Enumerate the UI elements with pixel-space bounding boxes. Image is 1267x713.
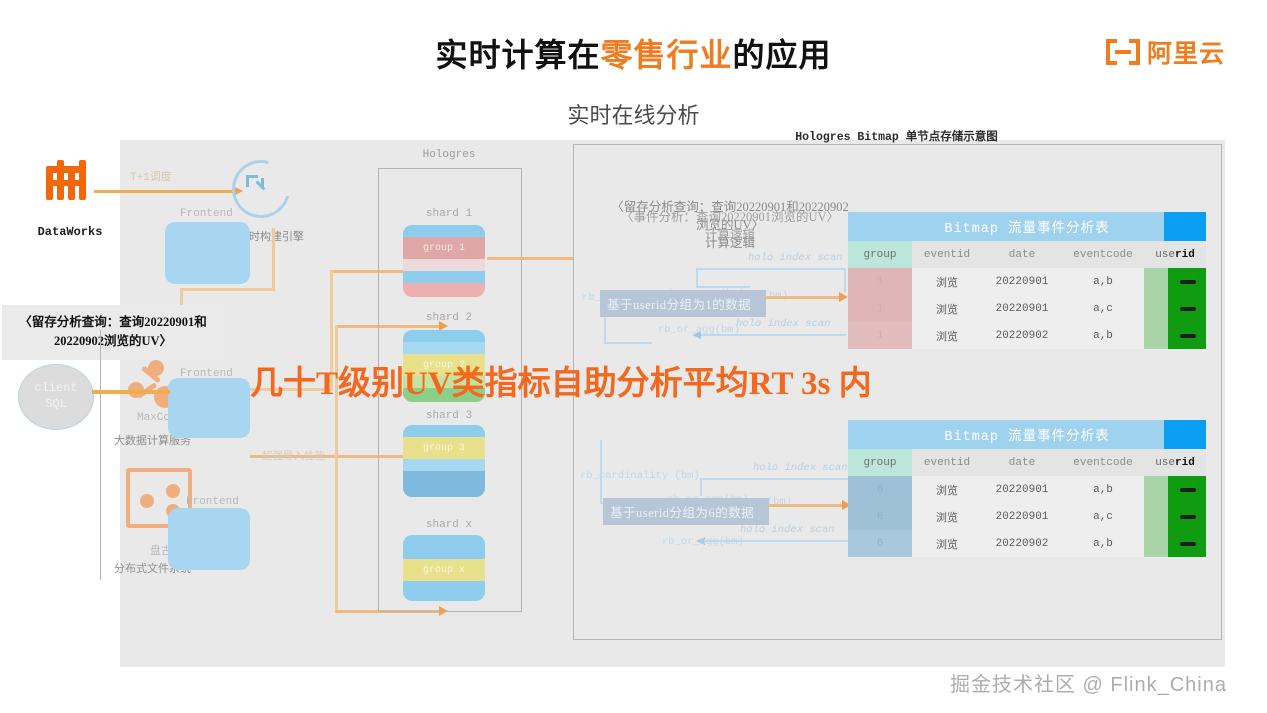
flow-bottom-line-1	[700, 478, 850, 480]
table-2-r0-date: 20220901	[982, 476, 1062, 503]
table-row: 1 浏览 20220902 a,b	[848, 322, 1206, 349]
table-2-caption-text: Bitmap 流量事件分析表	[944, 424, 1109, 445]
shard-node-x: group x	[403, 535, 485, 601]
right-panel-title: Hologres Bitmap 单节点存储示意图	[573, 128, 1220, 144]
table-2-col-group: group	[848, 449, 912, 476]
table-2-col-date: date	[982, 449, 1062, 476]
table-1-col-userid: userid	[1144, 241, 1206, 268]
table-2-header: group eventid date eventcode userid	[848, 449, 1206, 476]
alibaba-cloud-logo: 阿里云	[1106, 34, 1225, 70]
hologres-title: Hologres	[378, 149, 520, 161]
table-1-r1-eventid: 浏览	[912, 295, 982, 322]
flow-top-line-2	[696, 268, 698, 286]
table-1-r0-userid	[1144, 268, 1206, 295]
connector-1	[272, 228, 275, 290]
table-1-r0-date: 20220901	[982, 268, 1062, 295]
table-2-r1-date: 20220901	[982, 503, 1062, 530]
table-2-r1-group: 6	[848, 503, 912, 530]
dataworks-label: DataWorks	[22, 225, 118, 239]
table-2-r0-eventid: 浏览	[912, 476, 982, 503]
watermark: 掘金技术社区 @ Flink_China	[950, 668, 1227, 697]
slide-root: 实时计算在零售行业的应用 实时在线分析 阿里云 DataWorks T+1调度 …	[0, 0, 1267, 713]
shard-label-2: shard 2	[378, 312, 520, 324]
table-2-r2-userid	[1144, 530, 1206, 557]
shard-group-label-3: group 3	[403, 437, 485, 459]
table-1-r1-userid	[1144, 295, 1206, 322]
table-row: 6 浏览 20220901 a,b	[848, 476, 1206, 503]
callout-line-1: 〈留存分析查询：查询20220901和	[19, 315, 207, 329]
table-1-col-group: group	[848, 241, 912, 268]
flow-bottom-scan-label-1: holo index scan	[753, 462, 848, 474]
schedule-arrow-label: T+1调度	[130, 168, 172, 184]
table-1-accent-square	[1164, 212, 1206, 241]
table-1-col-eventcode: eventcode	[1062, 241, 1144, 268]
table-2-r2-date: 20220902	[982, 530, 1062, 557]
shard-label-1: shard 1	[378, 208, 520, 220]
logo-text: 阿里云	[1147, 34, 1225, 70]
table-2-r1-eventid: 浏览	[912, 503, 982, 530]
flow-top-scan-label-1: holo index scan	[748, 252, 843, 264]
query-b-line2: 计算逻辑	[590, 226, 870, 244]
bitmap-table-1: Bitmap 流量事件分析表 group eventid date eventc…	[848, 212, 1206, 349]
table-2-r1-userid	[1144, 503, 1206, 530]
retention-query-callout: 〈留存分析查询：查询20220901和 20220902浏览的UV〉	[2, 305, 224, 360]
shard-group-label-x: group x	[403, 559, 485, 581]
arrow-shard1-to-panel	[487, 257, 577, 260]
flow-bottom-overlay: 基于userid分组为6的数据	[603, 498, 769, 525]
flow-top-scan-label-2: holo index scan	[736, 318, 831, 330]
flow-bottom-scan-label-2: holo index scan	[740, 524, 835, 536]
table-1-r2-eventid: 浏览	[912, 322, 982, 349]
overlay-banner: 几十T级别UV类指标自助分析平均RT 3s 内	[250, 356, 1030, 404]
client-sql-node: client SQL	[18, 364, 94, 430]
alibaba-cloud-mark-icon	[1106, 39, 1140, 65]
import-arrow-label: 超强导入性能	[262, 448, 325, 463]
table-1-r1-eventcode: a,c	[1062, 295, 1144, 322]
table-row: 6 浏览 20220902 a,b	[848, 530, 1206, 557]
table-1-r2-userid	[1144, 322, 1206, 349]
table-1-caption: Bitmap 流量事件分析表	[848, 212, 1206, 241]
table-row: 1 浏览 20220901 a,c	[848, 295, 1206, 322]
table-2-r0-group: 6	[848, 476, 912, 503]
table-row: 1 浏览 20220901 a,b	[848, 268, 1206, 295]
connector-2	[180, 288, 275, 291]
flow-bottom-line-5	[600, 440, 602, 504]
title-part2: 的应用	[733, 37, 832, 73]
table-2-col-eventcode: eventcode	[1062, 449, 1144, 476]
frontend-box-1	[165, 222, 250, 284]
shard-label-3: shard 3	[378, 410, 520, 422]
flow-top-line-4	[844, 268, 846, 292]
table-1-caption-text: Bitmap 流量事件分析表	[944, 216, 1109, 237]
query-text-b: 〈事件分析：查询20220901浏览的UV〉 计算逻辑	[590, 208, 870, 244]
table-2-r1-eventcode: a,c	[1062, 503, 1144, 530]
frontend-label-1: Frontend	[180, 208, 233, 220]
callout-line-2: 20220902浏览的UV〉	[8, 332, 218, 351]
table-1-r0-group: 1	[848, 268, 912, 295]
table-1-r0-eventid: 浏览	[912, 268, 982, 295]
title-highlight: 零售行业	[600, 37, 732, 73]
shard-node-1: group 1	[403, 225, 485, 297]
table-2-caption: Bitmap 流量事件分析表	[848, 420, 1206, 449]
page-title: 实时计算在零售行业的应用	[0, 30, 1267, 76]
client-label-2: SQL	[45, 397, 67, 413]
table-row: 6 浏览 20220901 a,c	[848, 503, 1206, 530]
flow-top-agg-label-3: rb_or_agg(bm)	[658, 324, 740, 336]
table-2-col-eventid: eventid	[912, 449, 982, 476]
table-1-col-date: date	[982, 241, 1062, 268]
table-1-r0-eventcode: a,b	[1062, 268, 1144, 295]
table-2-r2-eventcode: a,b	[1062, 530, 1144, 557]
table-2-accent-square	[1164, 420, 1206, 449]
page-subtitle: 实时在线分析	[0, 98, 1267, 130]
table-2-col-userid: userid	[1144, 449, 1206, 476]
frontend-box-2	[168, 378, 250, 438]
title-part1: 实时计算在	[435, 37, 600, 73]
query-b-line1: 〈事件分析：查询20220901浏览的UV〉	[590, 208, 870, 226]
table-1-r2-eventcode: a,b	[1062, 322, 1144, 349]
client-label-1: client	[34, 381, 77, 397]
realtime-engine-glyph-icon	[246, 175, 270, 199]
vertical-divider	[100, 330, 101, 580]
table-1-header: group eventid date eventcode userid	[848, 241, 1206, 268]
table-1-col-eventid: eventid	[912, 241, 982, 268]
dataworks-icon	[46, 160, 94, 206]
flow-top-line-1	[696, 268, 846, 270]
table-2-r0-eventcode: a,b	[1062, 476, 1144, 503]
shard-group-label-1: group 1	[403, 237, 485, 259]
table-1-r2-date: 20220902	[982, 322, 1062, 349]
table-1-r1-date: 20220901	[982, 295, 1062, 322]
table-2-r2-group: 6	[848, 530, 912, 557]
schedule-arrow	[94, 190, 234, 193]
shard-node-3: group 3	[403, 425, 485, 497]
flow-bottom-cardinality-label: rb_cardinality (bm)	[580, 470, 700, 482]
flow-bottom-agg-label-3: rb_or_agg(bm)	[662, 536, 744, 548]
bitmap-table-2: Bitmap 流量事件分析表 group eventid date eventc…	[848, 420, 1206, 557]
flow-top-line-7	[604, 342, 652, 344]
flow-top-overlay: 基于userid分组为1的数据	[600, 290, 766, 317]
table-1-r2-group: 1	[848, 322, 912, 349]
client-link	[92, 390, 170, 394]
frontend-box-3	[168, 508, 250, 570]
table-2-r0-userid	[1144, 476, 1206, 503]
table-2-r2-eventid: 浏览	[912, 530, 982, 557]
frontend-label-3: Frontend	[186, 496, 239, 508]
table-1-r1-group: 1	[848, 295, 912, 322]
shard-label-x: shard x	[378, 519, 520, 531]
